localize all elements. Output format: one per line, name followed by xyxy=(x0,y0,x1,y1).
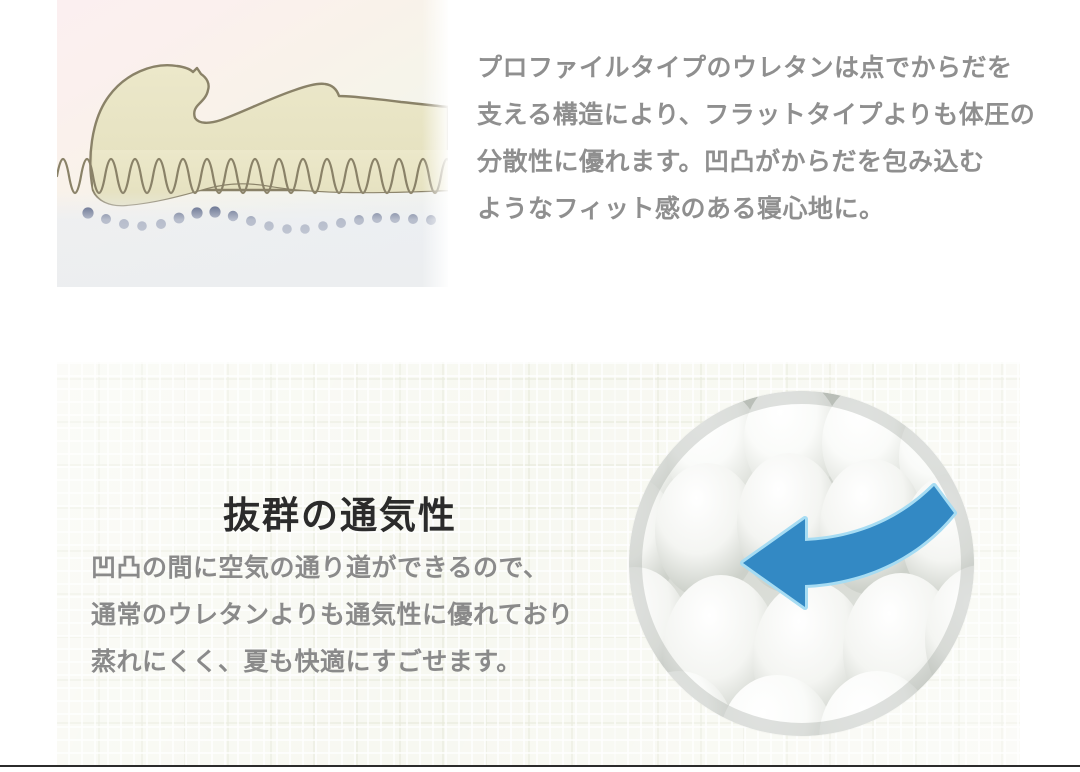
bottom-rule xyxy=(0,765,1080,767)
breathability-copy: 凹凸の間に空気の通り道ができるので、 通常のウレタンよりも通気性に優れており 蒸… xyxy=(91,545,631,686)
profile-copy-line-1: プロファイルタイプのウレタンは点でからだを xyxy=(477,45,1037,92)
breath-copy-line-1: 凹凸の間に空気の通り道ができるので、 xyxy=(91,545,631,592)
breathability-heading: 抜群の通気性 xyxy=(223,485,457,539)
breath-copy-line-2: 通常のウレタンよりも通気性に優れており xyxy=(91,592,631,639)
foam-photo-svg xyxy=(629,391,974,736)
breathability-section: 抜群の通気性 凹凸の間に空気の通り道ができるので、 通常のウレタンよりも通気性に… xyxy=(57,362,1020,765)
profile-foam-closeup-photo xyxy=(629,391,974,736)
sleeping-person-on-profile-foam-illustration xyxy=(57,0,448,287)
profile-urethane-section: プロファイルタイプのウレタンは点でからだを 支える構造により、フラットタイプより… xyxy=(0,0,1080,300)
illustration-right-fade xyxy=(422,0,448,287)
profile-urethane-copy: プロファイルタイプのウレタンは点でからだを 支える構造により、フラットタイプより… xyxy=(477,45,1037,233)
profile-copy-line-4: ようなフィット感のある寝心地に。 xyxy=(477,186,1037,233)
breath-copy-line-3: 蒸れにくく、夏も快適にすごせます。 xyxy=(91,639,631,686)
foam-surface xyxy=(629,391,974,736)
page-root: プロファイルタイプのウレタンは点でからだを 支える構造により、フラットタイプより… xyxy=(0,0,1080,772)
illustration-lower-wash xyxy=(57,191,448,287)
profile-copy-line-3: 分散性に優れます。凹凸がからだを包み込む xyxy=(477,139,1037,186)
profile-copy-line-2: 支える構造により、フラットタイプよりも体圧の xyxy=(477,92,1037,139)
